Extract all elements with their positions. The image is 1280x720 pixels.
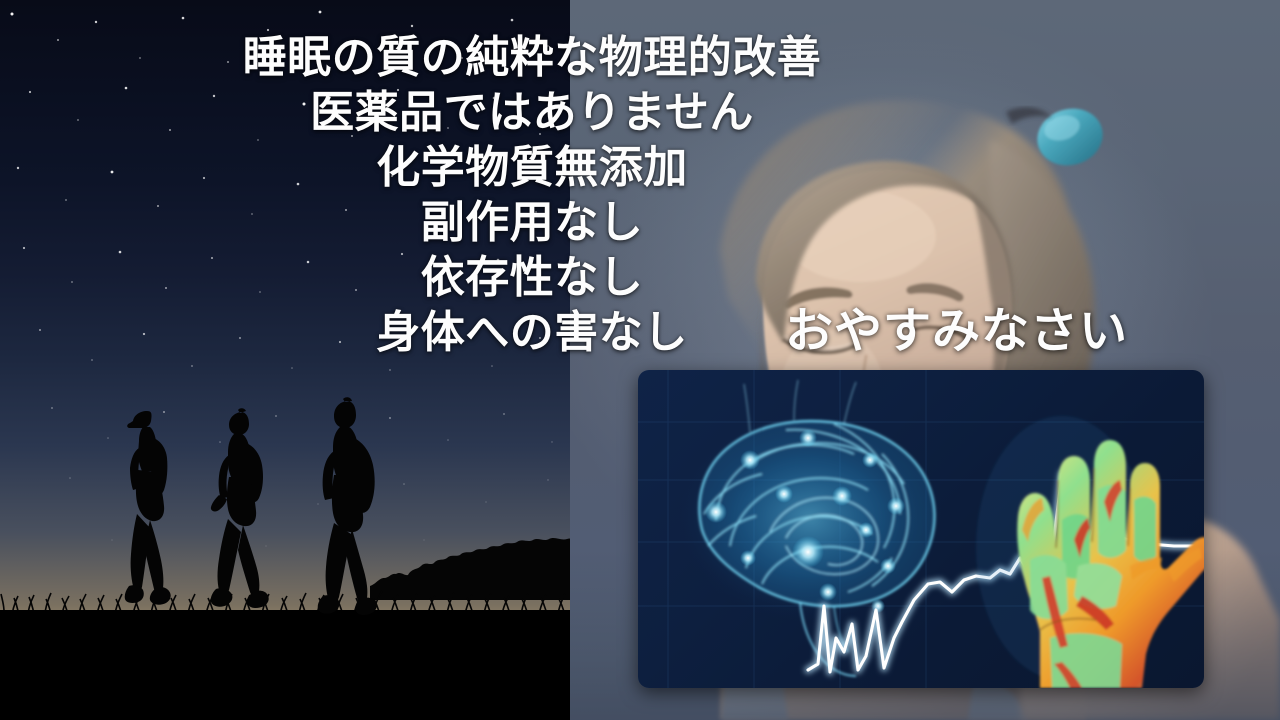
hiker-silhouette-1 xyxy=(100,402,200,617)
night-sky-hikers-photo xyxy=(0,0,570,720)
panel-artwork xyxy=(638,370,1204,688)
dark-foreground xyxy=(0,610,570,720)
brain-ekg-thermal-hand-panel xyxy=(638,370,1204,688)
hiker-silhouette-2 xyxy=(196,405,301,617)
hiker-silhouette-3 xyxy=(300,395,410,617)
thermal-hand xyxy=(976,416,1204,688)
promo-image: 睡眠の質の純粋な物理的改善 医薬品ではありません 化学物質無添加 副作用なし 依… xyxy=(0,0,1280,720)
